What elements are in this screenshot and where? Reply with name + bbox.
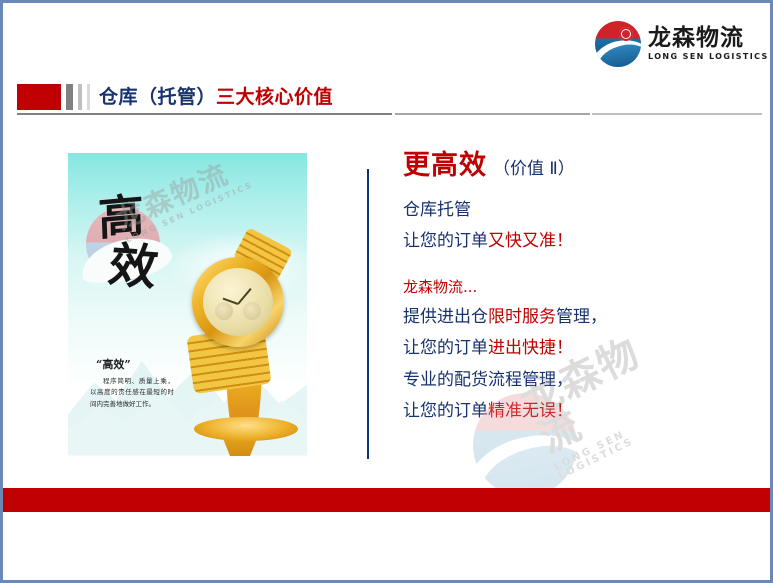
value-line-1-text: 仓库托管 bbox=[403, 200, 471, 220]
golden-watch-illustration bbox=[176, 231, 304, 451]
title-accent-gray-3 bbox=[87, 84, 90, 110]
brand-name-en: LONG SEN LOGISTICS bbox=[648, 53, 769, 61]
value-line-6-blue: 让您的订单 bbox=[403, 401, 488, 421]
watch-dial bbox=[203, 268, 273, 336]
value-line-3-blue-a: 提供进出仓 bbox=[403, 307, 488, 327]
footer-red-bar bbox=[3, 488, 770, 512]
value-line-6-red: 精准无误！ bbox=[488, 401, 573, 421]
value-text-panel: 更高效（价值 Ⅱ） 仓库托管 让您的订单又快又准！ 龙森物流... 提供进出仓限… bbox=[403, 143, 758, 427]
value-headline: 更高效（价值 Ⅱ） bbox=[403, 143, 758, 182]
poster-caption-title: “高效” bbox=[96, 356, 131, 372]
calligraphy-xiao: 效 bbox=[105, 226, 164, 299]
value-line-2-red: 又快又准！ bbox=[488, 231, 573, 251]
value-line-2: 让您的订单又快又准！ bbox=[403, 226, 758, 257]
slide-canvas: 龙森物流 LONG SEN LOGISTICS 仓库（托管）三大核心价值 高 效 bbox=[0, 0, 773, 583]
value-line-5: 专业的配货流程管理， bbox=[403, 365, 758, 396]
title-rule-right bbox=[592, 113, 762, 115]
value-line-3: 提供进出仓限时服务管理， bbox=[403, 302, 758, 333]
longsen-globe-logo-icon bbox=[595, 21, 641, 67]
section-title-bar: 仓库（托管）三大核心价值 bbox=[17, 84, 333, 110]
poster-caption-body: 程序简明、质量上乘，以高度的责任感在最短的时间内完善地做好工作。 bbox=[90, 376, 174, 410]
page-title: 仓库（托管）三大核心价值 bbox=[99, 84, 333, 110]
brand-lead-line: 龙森物流... bbox=[403, 274, 758, 302]
value-line-5-tail: ， bbox=[556, 370, 573, 390]
title-accent-red-block bbox=[17, 84, 61, 110]
title-accent-gray-1 bbox=[66, 84, 73, 110]
title-rule-left bbox=[17, 113, 392, 115]
value-line-3-blue-b: 管理， bbox=[556, 307, 607, 327]
title-rule-mid bbox=[395, 113, 590, 115]
page-title-highlight: 三大核心价值 bbox=[216, 86, 333, 108]
value-line-4: 让您的订单进出快捷！ bbox=[403, 333, 758, 364]
logo-head-dot-icon bbox=[619, 27, 633, 41]
value-line-4-red: 进出快捷！ bbox=[488, 338, 573, 358]
value-line-5-blue: 专业的配货流程管理 bbox=[403, 370, 556, 390]
value-headline-sub: （价值 Ⅱ） bbox=[493, 159, 575, 179]
watch-case bbox=[192, 257, 284, 347]
value-line-4-blue: 让您的订单 bbox=[403, 338, 488, 358]
brand-name-cn: 龙森物流 bbox=[648, 27, 769, 50]
gold-puddle bbox=[194, 417, 298, 441]
brand-logo: 龙森物流 LONG SEN LOGISTICS bbox=[595, 21, 769, 67]
value-line-3-red: 限时服务 bbox=[488, 307, 556, 327]
value-line-6: 让您的订单精准无误！ bbox=[403, 396, 758, 427]
brand-wordmark: 龙森物流 LONG SEN LOGISTICS bbox=[648, 27, 769, 61]
value-line-1: 仓库托管 bbox=[403, 195, 758, 226]
value-headline-main: 更高效 bbox=[403, 150, 487, 181]
efficiency-poster-image: 高 效 龙森物流 LONG SEN LOGISTICS “高效” 程序简明、质量… bbox=[68, 153, 307, 456]
value-line-2-blue: 让您的订单 bbox=[403, 231, 488, 251]
panel-divider bbox=[367, 169, 369, 459]
page-title-prefix: 仓库（托管） bbox=[99, 86, 216, 108]
